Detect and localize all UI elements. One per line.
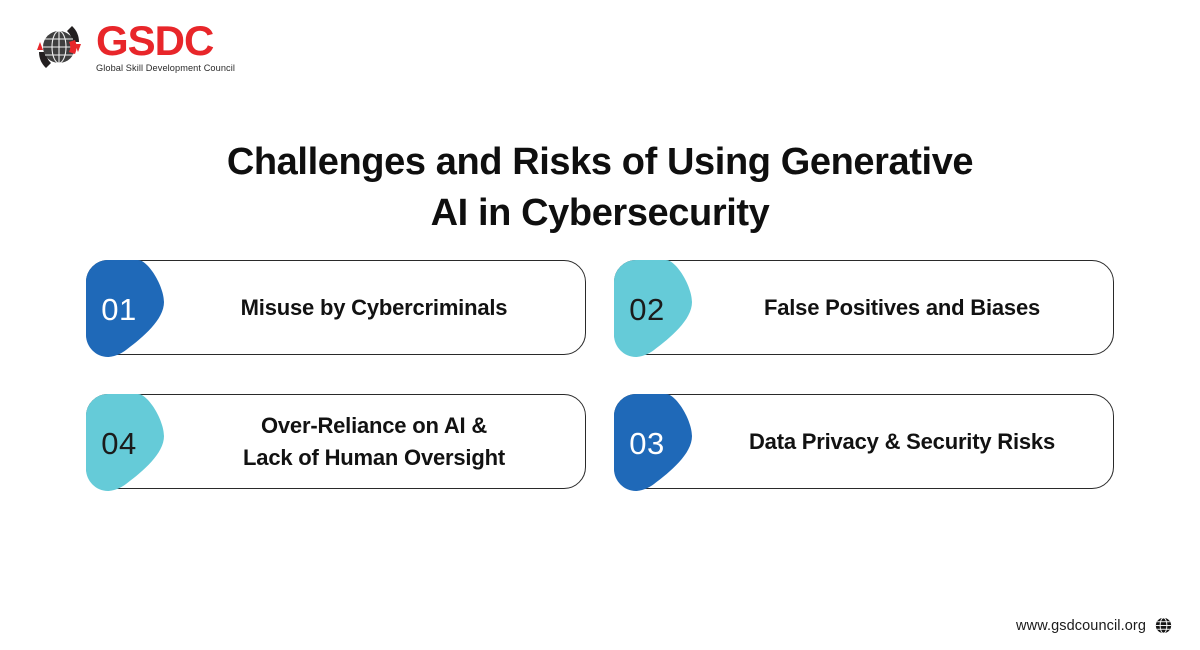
- logo-tagline: Global Skill Development Council: [96, 64, 235, 73]
- card-label-line1: False Positives and Biases: [707, 292, 1097, 324]
- card-label-04: Over-Reliance on AI & Lack of Human Over…: [179, 410, 569, 474]
- card-label-line2: Lack of Human Oversight: [179, 442, 569, 474]
- card-label-line1: Data Privacy & Security Risks: [707, 426, 1097, 458]
- badge-number-02: 02: [615, 261, 679, 358]
- challenge-card-02[interactable]: 02 False Positives and Biases: [614, 260, 1114, 355]
- badge-number-04: 04: [87, 395, 151, 492]
- challenge-card-03[interactable]: 03 Data Privacy & Security Risks: [614, 394, 1114, 489]
- badge-number-03: 03: [615, 395, 679, 492]
- card-label-01: Misuse by Cybercriminals: [179, 292, 569, 324]
- card-label-02: False Positives and Biases: [707, 292, 1097, 324]
- badge-number-01: 01: [87, 261, 151, 358]
- card-label-line1: Misuse by Cybercriminals: [179, 292, 569, 324]
- page-title: Challenges and Risks of Using Generative…: [0, 137, 1200, 237]
- card-label-line1: Over-Reliance on AI &: [179, 410, 569, 442]
- logo-wordmark: GSDC: [96, 21, 213, 61]
- footer: www.gsdcouncil.org: [1016, 617, 1172, 634]
- challenge-cards-grid: 01 Misuse by Cybercriminals 02 False Pos…: [86, 260, 1114, 489]
- brand-logo: GSDC Global Skill Development Council: [28, 18, 235, 76]
- title-line-1: Challenges and Risks of Using Generative: [0, 137, 1200, 187]
- title-line-2: AI in Cybersecurity: [0, 188, 1200, 238]
- globe-icon: [1155, 617, 1172, 634]
- challenge-card-01[interactable]: 01 Misuse by Cybercriminals: [86, 260, 586, 355]
- challenge-card-04[interactable]: 04 Over-Reliance on AI & Lack of Human O…: [86, 394, 586, 489]
- footer-url[interactable]: www.gsdcouncil.org: [1016, 618, 1146, 634]
- globe-arrows-icon: [28, 18, 90, 76]
- card-label-03: Data Privacy & Security Risks: [707, 426, 1097, 458]
